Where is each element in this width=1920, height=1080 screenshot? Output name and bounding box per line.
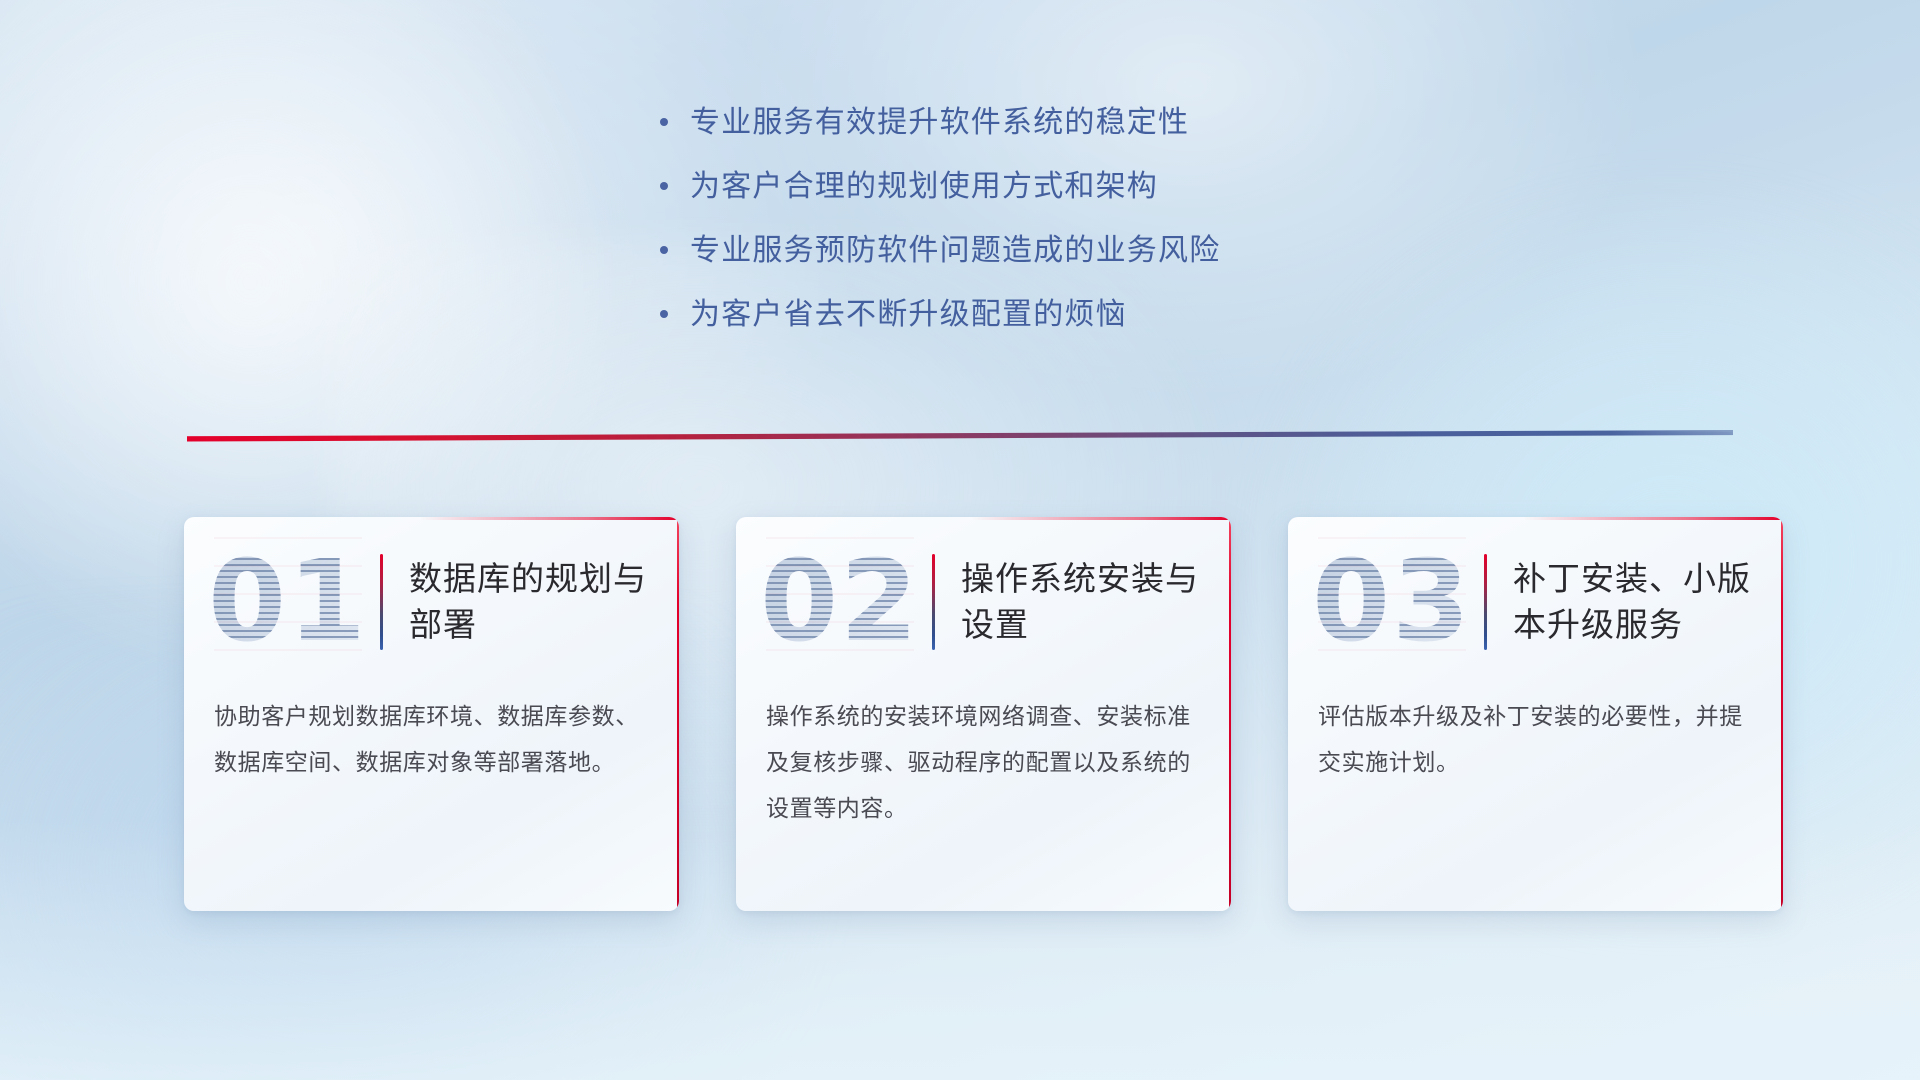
divider-edge — [187, 430, 1733, 442]
card-watermark-number: 01 — [214, 537, 362, 667]
card-watermark-number: 03 — [1318, 537, 1466, 667]
bullet-text: 专业服务有效提升软件系统的稳定性 — [690, 108, 1189, 138]
card-title: 操作系统安装与设置 — [961, 556, 1211, 647]
list-item: 专业服务预防软件问题造成的业务风险 — [660, 236, 1420, 300]
bullet-dot-icon — [660, 301, 690, 325]
card-title: 补丁安装、小版本升级服务 — [1513, 556, 1763, 647]
card-title: 数据库的规划与部署 — [409, 556, 659, 647]
list-item: 专业服务有效提升软件系统的稳定性 — [660, 108, 1420, 172]
card-body-text: 协助客户规划数据库环境、数据库参数、数据库空间、数据库对象等部署落地。 — [184, 687, 679, 785]
service-card-row: 01 数据库的规划与部署 协助客户规划数据库环境、数据库参数、数据库空间、数据库… — [184, 517, 1784, 917]
card-watermark-number: 02 — [766, 537, 914, 667]
watermark-number-text: 02 — [760, 546, 920, 658]
card-title-divider-bar — [380, 554, 383, 650]
card-title-divider-bar — [1484, 554, 1487, 650]
bullet-text: 专业服务预防软件问题造成的业务风险 — [690, 236, 1220, 266]
bullet-dot-icon — [660, 237, 690, 261]
card-body-text: 操作系统的安装环境网络调查、安装标准及复核步骤、驱动程序的配置以及系统的设置等内… — [736, 687, 1231, 831]
service-card[interactable]: 02 操作系统安装与设置 操作系统的安装环境网络调查、安装标准及复核步骤、驱动程… — [736, 517, 1231, 911]
gradient-divider-line — [187, 430, 1733, 442]
card-header: 03 补丁安装、小版本升级服务 — [1288, 517, 1783, 687]
watermark-number-text: 01 — [208, 546, 368, 658]
card-header: 02 操作系统安装与设置 — [736, 517, 1231, 687]
card-body-text: 评估版本升级及补丁安装的必要性，并提交实施计划。 — [1288, 687, 1783, 785]
service-card[interactable]: 01 数据库的规划与部署 协助客户规划数据库环境、数据库参数、数据库空间、数据库… — [184, 517, 679, 911]
service-card[interactable]: 03 补丁安装、小版本升级服务 评估版本升级及补丁安装的必要性，并提交实施计划。 — [1288, 517, 1783, 911]
list-item: 为客户合理的规划使用方式和架构 — [660, 172, 1420, 236]
card-header: 01 数据库的规划与部署 — [184, 517, 679, 687]
list-item: 为客户省去不断升级配置的烦恼 — [660, 300, 1420, 364]
bullet-text: 为客户合理的规划使用方式和架构 — [690, 172, 1158, 202]
watermark-number-text: 03 — [1312, 546, 1472, 658]
bullet-text: 为客户省去不断升级配置的烦恼 — [690, 300, 1127, 330]
benefits-bullet-list: 专业服务有效提升软件系统的稳定性 为客户合理的规划使用方式和架构 专业服务预防软… — [660, 108, 1420, 364]
bullet-dot-icon — [660, 109, 690, 133]
bullet-dot-icon — [660, 173, 690, 197]
slide-canvas: 专业服务有效提升软件系统的稳定性 为客户合理的规划使用方式和架构 专业服务预防软… — [0, 0, 1920, 1080]
card-title-divider-bar — [932, 554, 935, 650]
